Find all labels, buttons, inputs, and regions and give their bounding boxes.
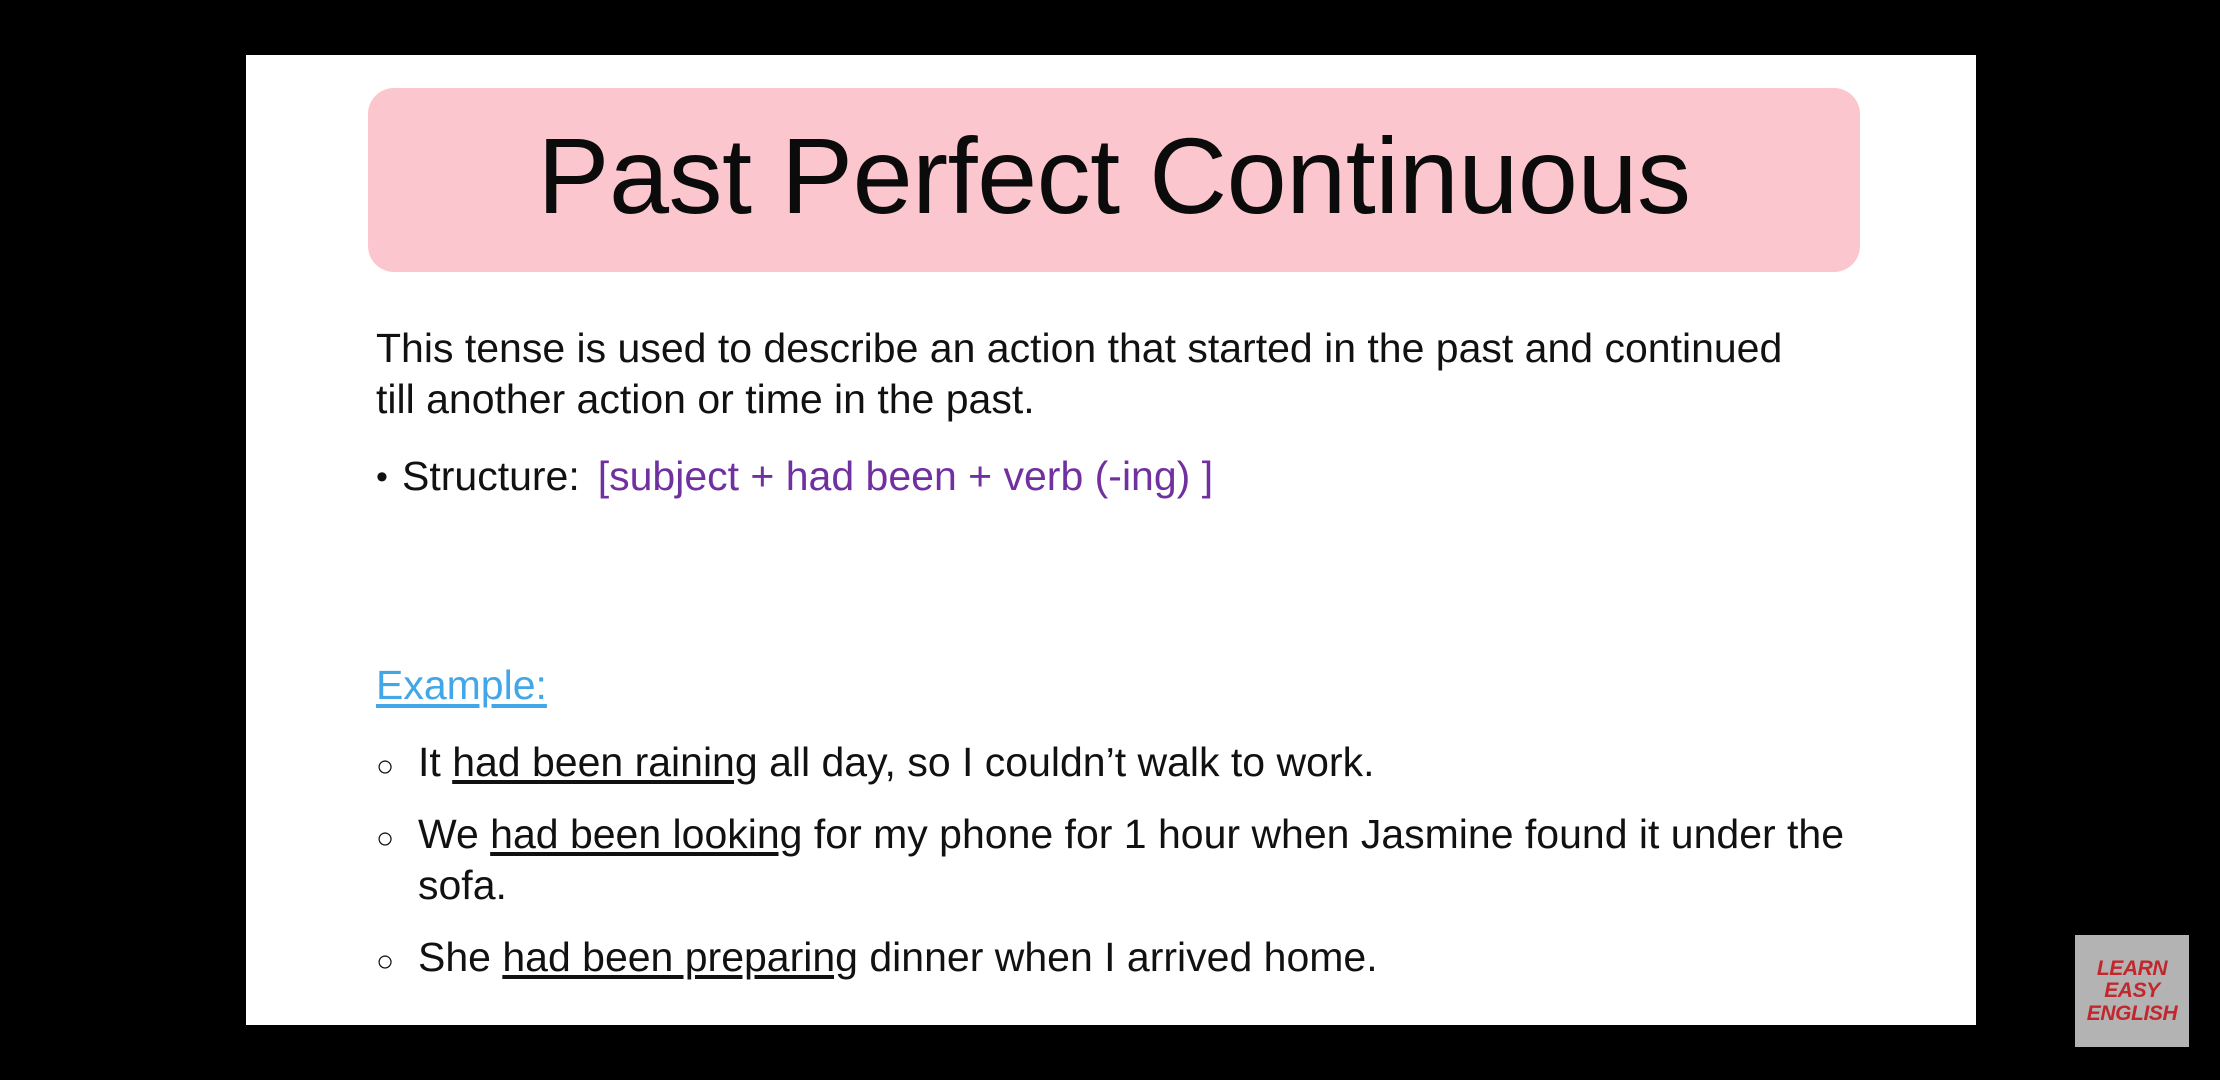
example-list: ○ It had been raining all day, so I coul…: [376, 737, 1896, 984]
circle-bullet-icon: ○: [376, 824, 418, 854]
slide-body: This tense is used to describe an action…: [376, 323, 1896, 1004]
structure-formula: [subject + had been + verb (-ing) ]: [598, 451, 1213, 502]
presentation-slide: Past Perfect Continuous This tense is us…: [246, 55, 1976, 1025]
video-stage: Past Perfect Continuous This tense is us…: [0, 0, 2220, 1080]
example-text-before: She: [418, 934, 502, 980]
example-heading: Example:: [376, 662, 547, 709]
example-text-before: It: [418, 739, 452, 785]
dot-bullet-icon: •: [376, 460, 402, 494]
circle-bullet-icon: ○: [376, 752, 418, 782]
example-sentence: She had been preparing dinner when I arr…: [418, 932, 1848, 984]
example-text-after: all day, so I couldn’t walk to work.: [758, 739, 1375, 785]
example-sentence: It had been raining all day, so I couldn…: [418, 737, 1848, 789]
structure-label: Structure:: [402, 451, 580, 502]
example-text-underlined: had been looking: [490, 811, 802, 857]
logo-line-2: EASY: [2104, 980, 2160, 1001]
structure-bullet-row: • Structure: [subject + had been + verb …: [376, 451, 1896, 502]
list-item: ○ We had been looking for my phone for 1…: [376, 809, 1896, 912]
list-item: ○ She had been preparing dinner when I a…: [376, 932, 1896, 984]
logo-line-1: LEARN: [2097, 958, 2167, 979]
example-text-after: dinner when I arrived home.: [858, 934, 1378, 980]
example-text-before: We: [418, 811, 490, 857]
slide-title: Past Perfect Continuous: [537, 122, 1690, 230]
example-sentence: We had been looking for my phone for 1 h…: [418, 809, 1848, 912]
watermark-logo: LEARN EASY ENGLISH: [2075, 935, 2189, 1047]
logo-line-3: ENGLISH: [2087, 1003, 2178, 1024]
circle-bullet-icon: ○: [376, 947, 418, 977]
list-item: ○ It had been raining all day, so I coul…: [376, 737, 1896, 789]
example-text-underlined: had been raining: [452, 739, 757, 785]
slide-title-banner: Past Perfect Continuous: [368, 88, 1860, 272]
tense-description: This tense is used to describe an action…: [376, 323, 1796, 425]
example-text-underlined: had been preparing: [502, 934, 858, 980]
